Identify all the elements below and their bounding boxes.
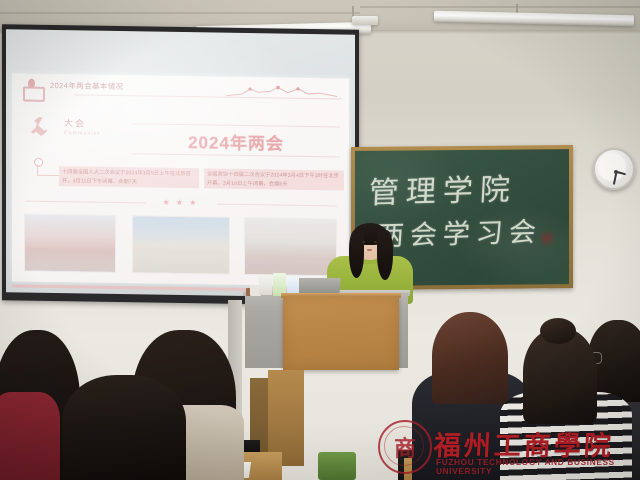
- presenter-mouth: [367, 249, 372, 251]
- audience-member-5-hair-bun: [540, 318, 576, 344]
- audience-member-2: [62, 375, 186, 480]
- green-bag: [318, 452, 356, 480]
- great-wall-decoration-icon: [224, 83, 339, 103]
- timeline-vertical: [37, 165, 38, 175]
- presenter-eye-left: [362, 241, 365, 243]
- slide-note-npc: 十四届全国人大二次会议于2024年3月5日上午在北京召开，3月11日下午闭幕，会…: [59, 166, 199, 188]
- projection-surface: 2024年两会基本情况 大会 Communist: [6, 29, 355, 297]
- audience-member-4: [432, 312, 508, 404]
- blackboard-red-mark: [539, 227, 555, 249]
- clock-hour-hand: [617, 171, 626, 175]
- slide-photo-strip: [24, 214, 337, 277]
- desk-box-white: [259, 275, 272, 295]
- slide-section-label: 大会 Communist: [64, 116, 100, 137]
- slide-photo-1: [24, 214, 116, 273]
- blackboard-line-1: 管理学院: [368, 164, 518, 212]
- ceiling-conduit-left: [0, 12, 360, 14]
- ceiling-light-mid: [352, 16, 378, 25]
- slide-title: 2024年两会: [132, 127, 340, 155]
- slide-photo-2: [132, 215, 230, 275]
- hammer-sickle-icon: [28, 114, 54, 140]
- timeline-dot: [34, 158, 43, 167]
- slide-note-cppcc: 全国政协十四届二次会议于2024年3月4日下午3时在北京开幕，3月10日上午闭幕…: [204, 168, 344, 190]
- presenter-hair-right: [377, 230, 393, 280]
- slide-header: 2024年两会基本情况: [12, 73, 349, 106]
- party-emblem-icon: [22, 79, 42, 99]
- projection-screen: 2024年两会基本情况 大会 Communist: [2, 24, 359, 306]
- wall-clock: [593, 148, 635, 190]
- slide-photo-3: [244, 217, 337, 276]
- presenter-eye-right: [374, 241, 377, 243]
- podium: [283, 296, 399, 370]
- clock-face: [598, 153, 626, 181]
- slide-header-label: 2024年两会基本情况: [50, 80, 124, 92]
- presenter-hair-left: [349, 230, 364, 278]
- ceiling-conduit-right: [360, 6, 640, 8]
- presentation-slide: 2024年两会基本情况 大会 Communist: [12, 73, 349, 286]
- classroom-photo: 2024年两会基本情况 大会 Communist: [0, 0, 640, 480]
- audience-member-1-top: [0, 392, 60, 480]
- clock-center-pin: [614, 170, 618, 174]
- slide-stars: ★ ★ ★: [12, 195, 349, 210]
- timeline-horizontal: [37, 175, 59, 176]
